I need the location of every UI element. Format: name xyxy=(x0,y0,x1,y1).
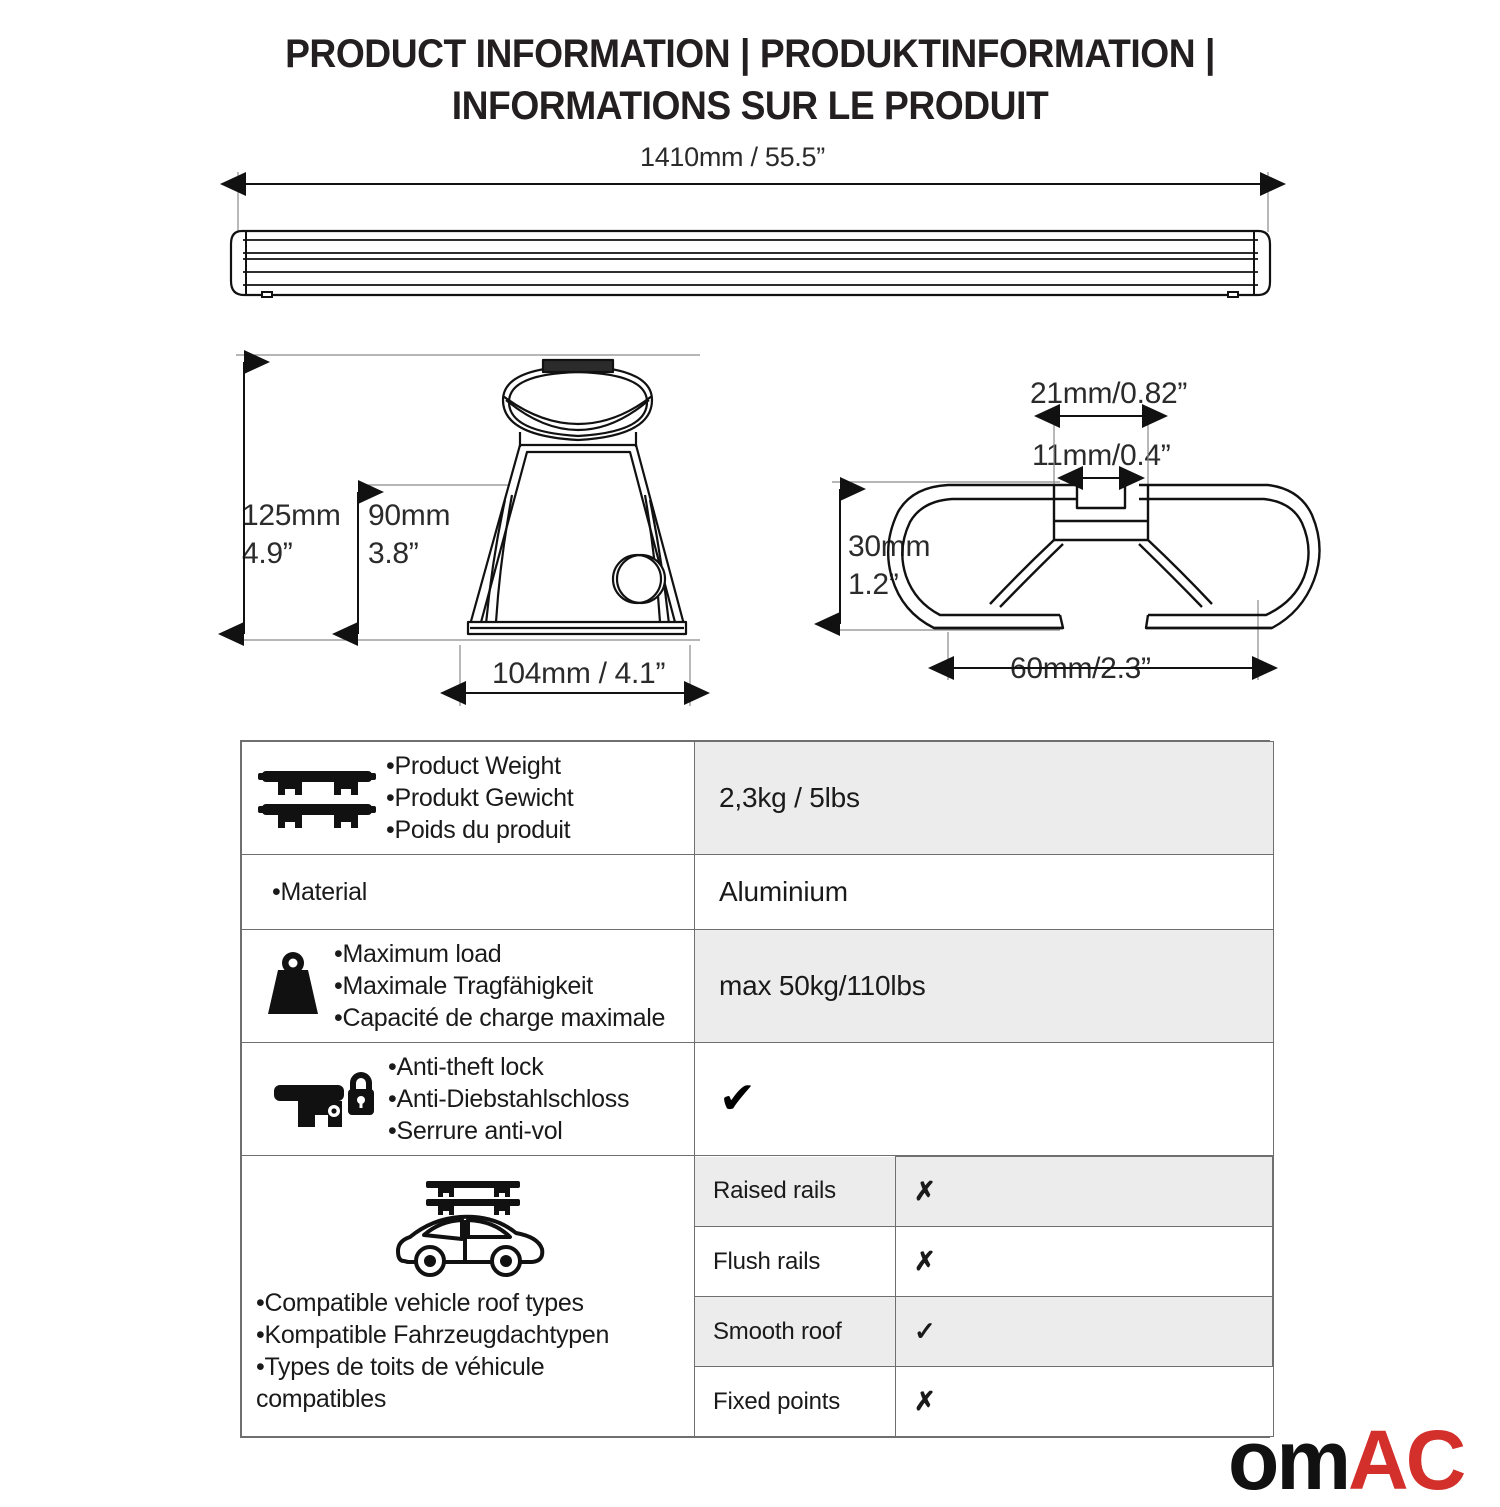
row-value-cell: max 50kg/110lbs xyxy=(695,930,1274,1043)
foot-total-height-label: 125mm 4.9” xyxy=(242,497,341,573)
roof-type-row: Flush rails ✗ xyxy=(695,1227,1273,1297)
roof-type-value-cell: ✗ xyxy=(896,1157,1273,1227)
foot-tower-graphic xyxy=(468,360,686,634)
foot-width-label: 104mm / 4.1” xyxy=(492,655,665,693)
bullet-line: •Capacité de charge maximale xyxy=(334,1002,665,1034)
roof-type-name-cell: Flush rails xyxy=(695,1227,896,1297)
roof-type-name-cell: Fixed points xyxy=(695,1367,896,1437)
bullet-line: •Product Weight xyxy=(386,750,573,782)
roof-type-row: Smooth roof ✓ xyxy=(695,1297,1273,1367)
roof-type-row: Raised rails ✗ xyxy=(695,1157,1273,1227)
lock-icon xyxy=(272,1063,376,1135)
omac-logo: omAC xyxy=(1228,1418,1463,1502)
bullet-line: •Material xyxy=(272,876,367,908)
row-value-cell: 2,3kg / 5lbs xyxy=(695,742,1274,855)
row-value-cell: Aluminium xyxy=(695,855,1274,930)
table-row: •Product Weight •Produkt Gewicht •Poids … xyxy=(242,742,1274,855)
logo-letter-o: o xyxy=(1228,1413,1276,1507)
bullet-line: •Poids du produit xyxy=(386,814,573,846)
roof-type-name: Flush rails xyxy=(695,1248,895,1276)
roof-type-mark: ✗ xyxy=(896,1386,1273,1417)
product-weight-value: 2,3kg / 5lbs xyxy=(695,782,1273,814)
specification-table: •Product Weight •Produkt Gewicht •Poids … xyxy=(240,740,1270,1438)
product-information-sheet: PRODUCT INFORMATION | PRODUKTINFORMATION… xyxy=(0,0,1500,1500)
material-value: Aluminium xyxy=(695,876,1273,908)
table-row: •Maximum load •Maximale Tragfähigkeit •C… xyxy=(242,930,1274,1043)
row-bullets: •Anti-theft lock •Anti-Diebstahlschloss … xyxy=(388,1051,629,1147)
roof-type-mark: ✗ xyxy=(896,1176,1272,1207)
extension-lines xyxy=(238,172,1268,232)
roof-bar-endcaps xyxy=(246,232,1254,297)
compatibility-bullets: •Compatible vehicle roof types •Kompatib… xyxy=(256,1287,609,1415)
maximum-load-value: max 50kg/110lbs xyxy=(695,970,1273,1002)
table-row: •Material Aluminium xyxy=(242,855,1274,930)
roof-type-value-cell: ✗ xyxy=(896,1367,1273,1437)
logo-letter-m: m xyxy=(1276,1413,1348,1507)
roof-type-value-cell: ✓ xyxy=(896,1297,1273,1367)
roof-type-name-cell: Raised rails xyxy=(695,1157,896,1227)
table-row: •Anti-theft lock •Anti-Diebstahlschloss … xyxy=(242,1043,1274,1156)
roof-type-value-cell: ✗ xyxy=(896,1227,1273,1297)
bullet-line: •Types de toits de véhicule xyxy=(256,1351,609,1383)
roof-type-mark: ✓ xyxy=(896,1316,1272,1347)
bullet-line: •Produkt Gewicht xyxy=(386,782,573,814)
page-title: PRODUCT INFORMATION | PRODUKTINFORMATION… xyxy=(0,28,1500,132)
foot-inner-height-label: 90mm 3.8” xyxy=(368,497,450,573)
logo-letters-ac: AC xyxy=(1348,1413,1463,1507)
bullet-line: •Anti-Diebstahlschloss xyxy=(388,1083,629,1115)
crossbar-profile-graphic xyxy=(888,485,1319,628)
row-value-cell: ✔ xyxy=(695,1043,1274,1156)
table-row-compatibility: •Compatible vehicle roof types •Kompatib… xyxy=(242,1156,1274,1437)
bullet-line: compatibles xyxy=(256,1383,609,1415)
roof-types-table: Raised rails ✗ Flush rails xyxy=(695,1156,1273,1436)
profile-slot-outer-label: 21mm/0.82” xyxy=(1030,375,1187,413)
compatibility-label-cell: •Compatible vehicle roof types •Kompatib… xyxy=(242,1156,695,1437)
row-bullets: •Maximum load •Maximale Tragfähigkeit •C… xyxy=(334,938,665,1034)
bullet-line: •Compatible vehicle roof types xyxy=(256,1287,609,1319)
roof-type-name: Smooth roof xyxy=(695,1318,895,1346)
bullet-line: •Serrure anti-vol xyxy=(388,1115,629,1147)
weight-icon xyxy=(256,950,330,1022)
row-label-cell: •Product Weight •Produkt Gewicht •Poids … xyxy=(242,742,695,855)
profile-height-label: 30mm 1.2” xyxy=(848,528,930,604)
roof-type-name-cell: Smooth roof xyxy=(695,1297,896,1367)
roof-type-mark: ✗ xyxy=(896,1246,1272,1277)
roof-bar-graphic xyxy=(231,231,1270,295)
bar-length-label: 1410mm / 55.5” xyxy=(640,140,825,174)
car-with-rack-icon xyxy=(390,1177,550,1281)
bullet-line: •Anti-theft lock xyxy=(388,1051,629,1083)
row-bullets: •Product Weight •Produkt Gewicht •Poids … xyxy=(386,750,573,846)
row-label-cell: •Maximum load •Maximale Tragfähigkeit •C… xyxy=(242,930,695,1043)
row-label-cell: •Anti-theft lock •Anti-Diebstahlschloss … xyxy=(242,1043,695,1156)
roof-type-row: Fixed points ✗ xyxy=(695,1367,1273,1437)
title-line-1: PRODUCT INFORMATION | PRODUKTINFORMATION… xyxy=(53,28,1448,80)
title-line-2: INFORMATIONS SUR LE PRODUIT xyxy=(53,80,1448,132)
row-label-cell: •Material xyxy=(242,855,695,930)
roof-type-name: Raised rails xyxy=(695,1177,895,1205)
anti-theft-lock-checkmark: ✔ xyxy=(695,1077,1273,1121)
profile-width-label: 60mm/2.3” xyxy=(1010,650,1151,688)
roof-type-name: Fixed points xyxy=(695,1388,895,1416)
bullet-line: •Maximale Tragfähigkeit xyxy=(334,970,665,1002)
bullet-line: •Kompatible Fahrzeugdachtypen xyxy=(256,1319,609,1351)
roof-bar-grooves xyxy=(243,240,1258,285)
bullet-line: •Maximum load xyxy=(334,938,665,970)
row-bullets: •Material xyxy=(272,876,367,908)
profile-slot-inner-label: 11mm/0.4” xyxy=(1032,437,1170,475)
roof-types-cell: Raised rails ✗ Flush rails xyxy=(695,1156,1274,1437)
crossbars-icon xyxy=(256,763,378,833)
